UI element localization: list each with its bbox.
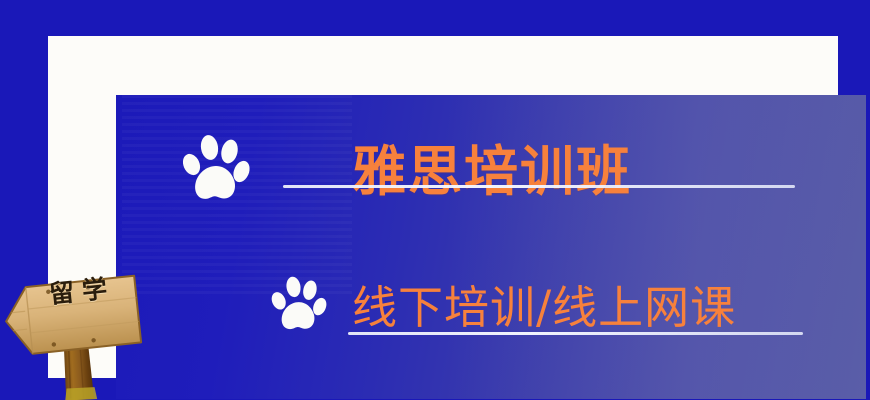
banner-subtitle: 线下培训/线上网课 bbox=[352, 285, 736, 330]
paw-print-icon bbox=[176, 133, 254, 211]
white-border-frame: 雅思培训班 线下培训/线上网课 bbox=[48, 36, 838, 378]
title-underline bbox=[283, 185, 795, 188]
subtitle-row: 线下培训/线上网课 bbox=[266, 275, 866, 339]
inner-gradient-panel: 雅思培训班 线下培训/线上网课 bbox=[116, 95, 866, 399]
promo-banner: 雅思培训班 线下培训/线上网课 bbox=[0, 0, 870, 400]
subtitle-underline bbox=[348, 332, 803, 335]
wooden-signpost: 留学 bbox=[0, 248, 156, 400]
paw-print-icon bbox=[266, 275, 330, 339]
banner-title: 雅思培训班 bbox=[352, 145, 632, 199]
title-row: 雅思培训班 bbox=[176, 133, 866, 211]
